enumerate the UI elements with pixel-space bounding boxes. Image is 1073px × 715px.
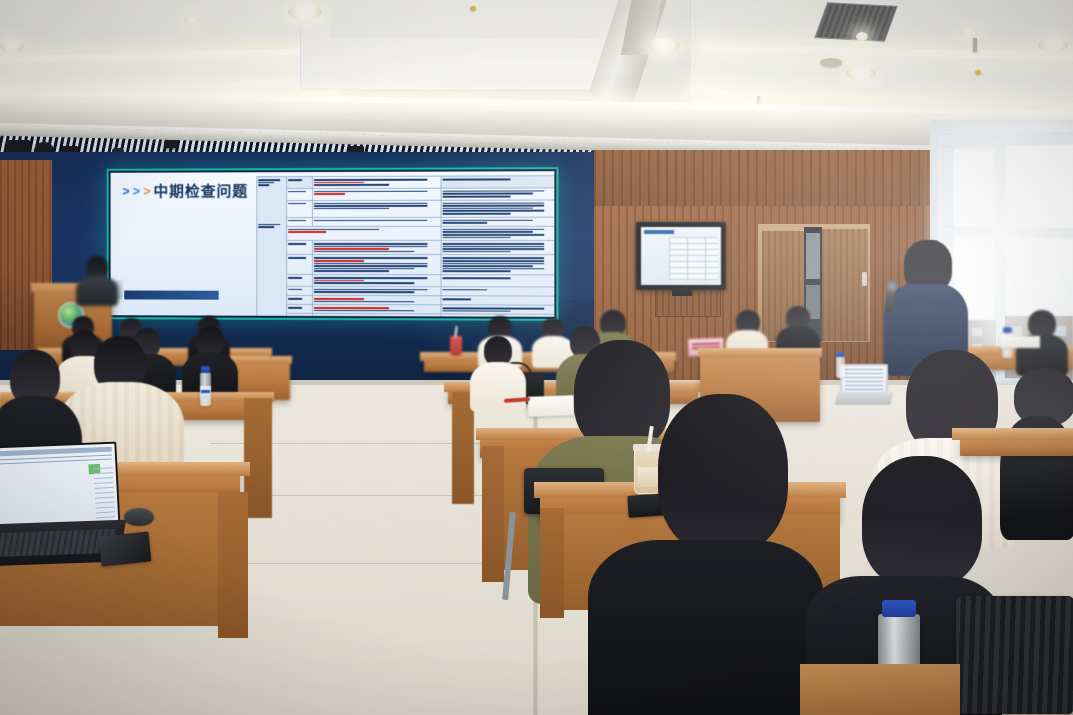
desk-foreground-right-side <box>540 508 564 618</box>
table-row <box>257 241 555 256</box>
table-cell <box>287 314 313 317</box>
ceiling-downlight-2 <box>648 38 680 53</box>
table-cell <box>287 241 313 255</box>
table-header-index <box>287 177 313 189</box>
attendee-head <box>862 456 982 588</box>
red-cup-back <box>450 336 462 356</box>
water-bottle-left <box>200 372 211 406</box>
table-cell <box>287 305 313 314</box>
chevron-icon-2: > <box>133 184 138 199</box>
slide-footer-bar <box>124 291 218 300</box>
table-cell <box>313 188 442 200</box>
table-row <box>257 176 555 189</box>
table-cell <box>441 241 554 256</box>
table-cell <box>441 188 554 200</box>
table-cell <box>441 275 554 287</box>
table-cell <box>287 255 313 275</box>
window-head-trim <box>938 133 1073 146</box>
presenter-at-podium <box>72 256 120 302</box>
table-header-advice <box>441 176 554 188</box>
ceiling-coffer-center-inner <box>330 0 600 38</box>
table-cell <box>287 217 313 226</box>
desk-foreground-left-side <box>218 492 248 638</box>
slide-table <box>256 175 554 317</box>
wall-wood-panel-left-2 <box>0 168 22 343</box>
ceiling-downlight-7 <box>856 32 868 41</box>
slide-content: > > > 中期检查问题 <box>111 171 555 317</box>
desk-row3-left-side <box>244 398 272 518</box>
ceiling-downlight-1 <box>288 4 322 20</box>
seated-attendee-mid-3 <box>182 326 240 400</box>
desk-bottom-right-surface <box>800 664 960 715</box>
table-cell <box>441 287 554 297</box>
table-cell <box>287 295 313 304</box>
table-cell <box>287 226 441 240</box>
ceiling-coffer-left-inner <box>0 0 320 56</box>
bottle-cap-icon <box>1003 327 1012 333</box>
nameplate-text-line-1 <box>692 342 721 345</box>
projection-screen: > > > 中期检查问题 <box>107 167 559 321</box>
monitor-title-bar <box>644 230 674 234</box>
bottle-cap-icon <box>201 366 210 373</box>
ceiling-downlight-6 <box>0 40 24 52</box>
smoke-detector-icon <box>820 58 842 67</box>
table-cell <box>313 255 442 275</box>
door-handle-icon[interactable] <box>862 272 867 286</box>
phone-foreground-left[interactable] <box>99 531 152 566</box>
chevron-icon-1: > <box>122 184 127 199</box>
wall-monitor-screen <box>641 227 721 285</box>
table-cell <box>287 200 313 217</box>
bottle-cap-icon <box>882 600 916 617</box>
table-cell <box>313 176 442 188</box>
table-row <box>257 188 555 201</box>
presenter-torso <box>76 276 118 306</box>
table-row <box>257 255 555 275</box>
attendee-torso <box>470 362 526 412</box>
bottle-cap-icon <box>836 352 844 357</box>
attendee-head <box>574 340 670 450</box>
desk-row2-right-far-top <box>698 348 822 357</box>
table-cell <box>287 188 313 200</box>
sprinkler-head-2-icon <box>470 6 476 11</box>
monitor-table-grid <box>669 237 718 281</box>
ceiling-downlight-4 <box>846 66 876 80</box>
table-cell <box>313 241 442 255</box>
table-cell <box>313 295 442 305</box>
attendee-head <box>658 394 788 554</box>
ceiling-hook-icon <box>973 38 977 52</box>
ceiling-downlight-5 <box>1038 38 1068 52</box>
ceiling-downlight-9 <box>184 16 200 25</box>
table-cell <box>441 226 554 241</box>
stage-light-4 <box>164 140 178 148</box>
bottle-label-mark <box>201 390 210 393</box>
table-cell <box>441 255 554 275</box>
desk-far-right-front-top <box>952 428 1073 440</box>
table-cell <box>441 296 554 306</box>
laptop-screen <box>0 442 120 531</box>
conference-room-photo: > > > 中期检查问题 <box>0 0 1073 715</box>
papers-stack-right <box>1000 336 1040 348</box>
wall-wood-panel-right-upper <box>594 150 954 206</box>
chair-back-bottom-right[interactable] <box>956 596 1073 714</box>
table-cell <box>313 200 442 217</box>
slide-title-block: > > > 中期检查问题 <box>122 180 248 201</box>
table-row <box>257 226 555 241</box>
table-row <box>257 200 555 218</box>
table-cell <box>313 314 442 317</box>
table-cell <box>313 286 442 296</box>
table-cell <box>313 305 442 315</box>
sprinkler-head-icon <box>975 70 981 75</box>
water-bottle-right-desk <box>836 356 845 378</box>
door-leaf-right <box>822 229 868 341</box>
monitor-stand <box>672 290 692 296</box>
outside-building-window <box>972 328 982 336</box>
bottle-label <box>200 386 211 399</box>
computer-mouse[interactable] <box>124 508 154 526</box>
table-group-cell <box>257 177 287 317</box>
table-cell <box>287 274 313 286</box>
table-cell <box>441 305 554 315</box>
table-cell <box>313 217 442 226</box>
laptop-screen-sidebar <box>93 467 115 518</box>
table-cell <box>441 200 554 217</box>
table-row <box>257 274 555 286</box>
chevron-icon-3: > <box>143 184 148 199</box>
door-gap-light-strip <box>806 233 820 279</box>
desk-row3-right-side <box>482 446 504 582</box>
slide-title: 中期检查问题 <box>153 180 248 201</box>
wall-monitor <box>636 222 726 290</box>
table-cell <box>287 286 313 295</box>
table-cell <box>441 217 554 226</box>
ceiling-downlight-8 <box>960 28 978 38</box>
table-cell <box>313 275 442 287</box>
table-row <box>257 217 555 227</box>
